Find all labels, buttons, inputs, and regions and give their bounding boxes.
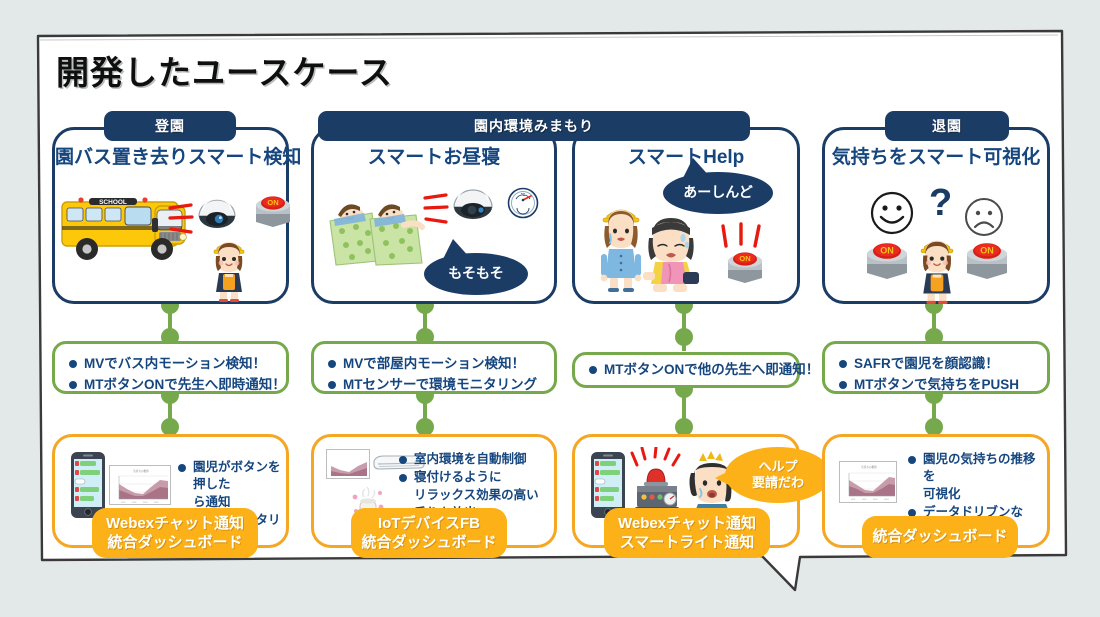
feature-bullet-list: MVで部屋内モーション検知！ MTセンサーで環境モニタリング <box>328 353 544 396</box>
svg-text:2024: 2024 <box>884 499 889 501</box>
outcome-label-line: 統合ダッシュボード <box>872 527 1007 547</box>
feature-bullet: MVでバス内モーション検知！ <box>69 353 276 374</box>
svg-text:気持ちの推移: 気持ちの推移 <box>861 465 877 469</box>
outcome-label-line: IoTデバイスFB <box>378 514 480 534</box>
outcome-label-line: 統合ダッシュボード <box>361 533 496 553</box>
feature-bullet: SAFRで園児を顔認識！ <box>839 353 1037 374</box>
feature-box-bus[interactable]: MVでバス内モーション検知！ MTボタンONで先生へ即時通知！ <box>52 341 289 394</box>
speech-bubble-line: 要請だわ <box>752 475 804 491</box>
feature-bullet: MTセンサーで環境モニタリング <box>328 374 544 395</box>
usecase-card-mood-visualization[interactable]: 気持ちをスマート可視化 ? ON <box>822 127 1050 304</box>
svg-text:ON: ON <box>739 254 750 263</box>
svg-text:気持ちの推移: 気持ちの推移 <box>133 469 149 473</box>
area-chart-thumbnail: 気持ちの推移 20212022 20232024 <box>109 465 171 505</box>
feature-bullet: MTボタンONで先生へ即時通知！ <box>69 374 276 395</box>
on-button-icon[interactable]: ON <box>861 238 913 282</box>
outcome-bullet: 寝付けるように <box>398 469 556 486</box>
usecase-card-bus-detection[interactable]: 園バス置き去りスマート検知 SCHOOL <box>52 127 289 304</box>
group-badge-arrival[interactable]: 登園 <box>104 111 236 141</box>
question-mark-icon: ? <box>929 182 952 225</box>
feature-bullet: MTボタンONで他の先生へ即通知！ <box>589 359 819 380</box>
group-badge-departure[interactable]: 退園 <box>885 111 1009 141</box>
speech-bubble-text: もそもそ <box>448 265 503 283</box>
group-badge-indoor[interactable]: 園内環境みまもり <box>318 111 750 141</box>
teacher-icon <box>597 196 645 294</box>
on-button-label: ON <box>267 198 278 207</box>
on-button-icon[interactable]: ON <box>723 248 767 286</box>
alert-rays-icon <box>167 202 195 236</box>
usecase-title: 園バス置き去りスマート検知 <box>55 142 286 169</box>
outcome-label-bus[interactable]: Webexチャット通知 統合ダッシュボード <box>92 508 258 558</box>
outcome-bullet: 園児の気持ちの推移を <box>907 451 1047 485</box>
tired-child-icon <box>639 210 703 294</box>
svg-text:℃: ℃ <box>521 192 526 197</box>
feature-bullet: MVで部屋内モーション検知！ <box>328 353 544 374</box>
usecase-card-smart-help[interactable]: スマートHelp あーしんど <box>572 127 800 304</box>
svg-text:2022: 2022 <box>862 499 867 501</box>
bus-label: SCHOOL <box>99 199 127 206</box>
feature-box-mood[interactable]: SAFRで園児を顔認識！ MTボタンで気持ちをPUSH <box>822 341 1050 394</box>
outcome-label-help[interactable]: Webexチャット通知 スマートライト通知 <box>604 508 770 558</box>
on-button-icon[interactable]: ON <box>251 192 295 230</box>
svg-text:ON: ON <box>980 246 994 256</box>
area-chart-thumbnail <box>326 449 370 479</box>
sad-face-icon <box>963 196 1005 238</box>
speech-bubble-line: ヘルプ <box>758 459 797 475</box>
outcome-label-line: Webexチャット通知 <box>618 514 756 534</box>
outcome-bullet: 園児がボタンを押した <box>177 459 289 493</box>
speech-bubble-help-request: ヘルプ 要請だわ <box>725 447 831 503</box>
speech-bubble-text: あーしんど <box>683 184 753 202</box>
on-button-icon[interactable]: ON <box>961 238 1013 282</box>
connector-feature-outcome-help <box>675 380 693 436</box>
outcome-bullet: 室内環境を自動制御 <box>398 451 556 468</box>
child-teacher-icon <box>915 228 959 304</box>
outcome-label-mood[interactable]: 統合ダッシュボード <box>862 516 1018 558</box>
outcome-bullet-cont: リラックス効果の高い <box>398 487 556 504</box>
feature-bullet-list: MVでバス内モーション検知！ MTボタンONで先生へ即時通知！ <box>69 353 276 396</box>
area-chart-thumbnail: 気持ちの推移 20212022 20232024 <box>839 461 897 503</box>
smiley-face-icon <box>869 190 915 236</box>
outcome-label-line: Webexチャット通知 <box>106 514 244 534</box>
dome-camera-icon <box>450 184 496 222</box>
feature-bullet-list: SAFRで園児を顔認識！ MTボタンで気持ちをPUSH <box>839 353 1037 396</box>
svg-text:2022: 2022 <box>132 502 137 504</box>
svg-text:ON: ON <box>880 246 894 256</box>
outcome-label-nap[interactable]: IoTデバイスFB 統合ダッシュボード <box>351 508 507 558</box>
feature-box-nap[interactable]: MVで部屋内モーション検知！ MTセンサーで環境モニタリング <box>311 341 557 394</box>
dome-camera-icon <box>195 194 239 230</box>
feature-bullet-list: MTボタンONで他の先生へ即通知！ <box>589 359 819 380</box>
child-teacher-icon <box>209 230 249 302</box>
svg-text:2021: 2021 <box>851 499 856 501</box>
svg-text:2023: 2023 <box>873 499 878 501</box>
speech-bubble-nap: もそもそ <box>424 253 528 295</box>
outcome-label-line: 統合ダッシュボード <box>107 533 242 553</box>
feature-box-help[interactable]: MTボタンONで他の先生へ即通知！ <box>572 352 800 388</box>
usecase-title: スマートお昼寝 <box>314 142 554 169</box>
outcome-bullet-cont: 可視化 <box>907 486 1047 503</box>
usecase-title: 気持ちをスマート可視化 <box>825 142 1047 169</box>
svg-text:2023: 2023 <box>143 502 148 504</box>
outcome-label-line: スマートライト通知 <box>620 533 755 553</box>
alert-rays-icon <box>422 192 450 226</box>
alert-rays-icon <box>721 222 761 250</box>
sleeping-children-icon <box>326 187 436 269</box>
svg-text:2024: 2024 <box>154 502 159 504</box>
feature-bullet: MTボタンで気持ちをPUSH <box>839 374 1037 395</box>
gauge-sensor-icon: ℃ <box>506 186 540 220</box>
speech-bubble-help: あーしんど <box>663 172 773 214</box>
usecase-card-smart-nap[interactable]: スマートお昼寝 <box>311 127 557 304</box>
svg-text:2021: 2021 <box>121 502 126 504</box>
